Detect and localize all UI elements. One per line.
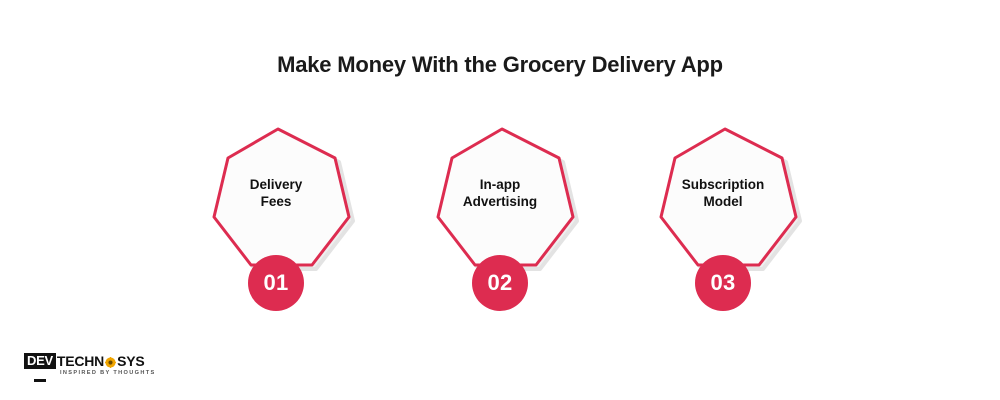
logo-tagline: INSPIRED BY THOUGHTS xyxy=(60,370,156,376)
gear-icon xyxy=(105,355,116,366)
company-logo[interactable]: DEV TECHN SYS INSPIRED BY THOUGHTS xyxy=(24,352,156,382)
logo-wordmark: DEV TECHN SYS xyxy=(24,352,145,369)
logo-stand-decoration xyxy=(34,379,46,382)
logo-name-part1: TECHN xyxy=(57,353,104,369)
logo-name-part2: SYS xyxy=(117,353,144,369)
step-label-1: Delivery Fees xyxy=(206,176,346,210)
logo-dev-badge: DEV xyxy=(24,353,56,369)
step-badge-2[interactable]: 02 xyxy=(472,255,528,311)
step-label-2: In-app Advertising xyxy=(430,176,570,210)
step-badge-1[interactable]: 01 xyxy=(248,255,304,311)
step-badge-3[interactable]: 03 xyxy=(695,255,751,311)
page-title: Make Money With the Grocery Delivery App xyxy=(0,52,1000,78)
step-label-3: Subscription Model xyxy=(653,176,793,210)
infographic-canvas: Make Money With the Grocery Delivery App… xyxy=(0,0,1000,400)
steps-row: Delivery Fees 01 In-app Advertising 02 xyxy=(0,118,1000,318)
step-card-1[interactable]: Delivery Fees 01 xyxy=(176,118,376,318)
step-card-3[interactable]: Subscription Model 03 xyxy=(623,118,823,318)
step-card-2[interactable]: In-app Advertising 02 xyxy=(400,118,600,318)
